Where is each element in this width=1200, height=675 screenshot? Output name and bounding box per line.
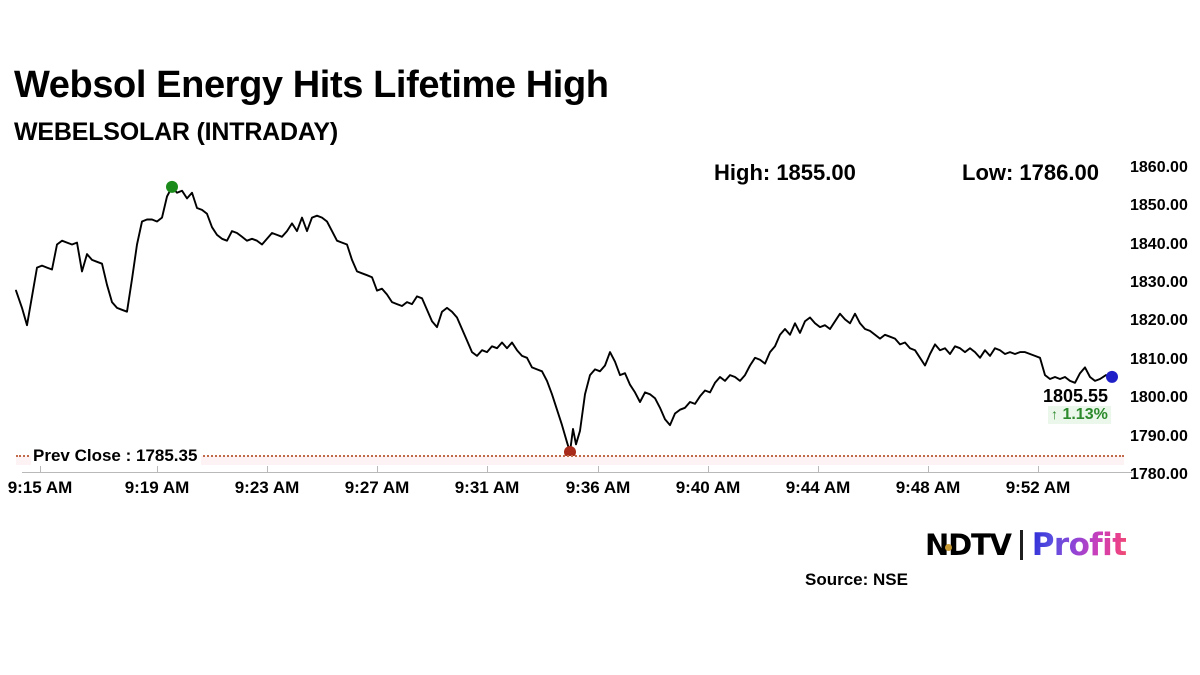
page-title: Websol Energy Hits Lifetime High: [14, 66, 609, 104]
up-arrow-icon: ↑: [1051, 406, 1058, 422]
y-axis-tick: 1800.00: [1130, 390, 1188, 406]
chart-card: Websol Energy Hits Lifetime High WEBELSO…: [0, 0, 1200, 675]
x-axis-tick: 9:36 AM: [566, 479, 631, 496]
x-axis-tick-mark: [267, 466, 268, 473]
x-axis-tick-mark: [708, 466, 709, 473]
x-axis-tick: 9:19 AM: [125, 479, 190, 496]
last-change-label: ↑ 1.13%: [1048, 406, 1111, 424]
y-axis: 1860.001850.001840.001830.001820.001810.…: [1128, 160, 1200, 480]
x-axis-tick: 9:23 AM: [235, 479, 300, 496]
y-axis-tick: 1840.00: [1130, 237, 1188, 253]
price-line: [16, 187, 1112, 452]
y-axis-tick: 1820.00: [1130, 313, 1188, 329]
high-point-marker: [166, 181, 178, 193]
price-chart-plot: [0, 160, 1130, 475]
x-axis-tick-mark: [928, 466, 929, 473]
ndtv-dot-icon: [945, 544, 952, 551]
x-axis-tick-mark: [1038, 466, 1039, 473]
profit-wordmark: Profit: [1032, 530, 1127, 561]
x-axis-tick-mark: [818, 466, 819, 473]
price-line-svg: [0, 160, 1130, 475]
x-axis-tick-mark: [377, 466, 378, 473]
last-change-value: 1.13%: [1062, 406, 1107, 423]
page-subtitle: WEBELSOLAR (INTRADAY): [14, 120, 338, 145]
ndtv-text: NDTV: [925, 528, 1011, 562]
y-axis-tick: 1810.00: [1130, 352, 1188, 368]
last-price-label: 1805.55: [1043, 387, 1108, 405]
last-point-marker: [1106, 371, 1118, 383]
x-axis: 9:15 AM9:19 AM9:23 AM9:27 AM9:31 AM9:36 …: [0, 479, 1200, 509]
x-axis-tick: 9:44 AM: [786, 479, 851, 496]
x-axis-tick: 9:52 AM: [1006, 479, 1071, 496]
prev-close-label: Prev Close : 1785.35: [31, 445, 201, 466]
x-axis-tick: 9:40 AM: [676, 479, 741, 496]
y-axis-tick: 1790.00: [1130, 429, 1188, 445]
x-axis-tick: 9:31 AM: [455, 479, 520, 496]
ndtv-profit-logo: NDTV Profit: [925, 528, 1126, 562]
x-axis-tick-mark: [598, 466, 599, 473]
y-axis-tick: 1860.00: [1130, 160, 1188, 176]
ndtv-wordmark: NDTV: [925, 531, 1011, 560]
y-axis-tick: 1830.00: [1130, 275, 1188, 291]
x-axis-tick-mark: [157, 466, 158, 473]
y-axis-tick: 1850.00: [1130, 198, 1188, 214]
logo-divider: [1020, 530, 1023, 560]
x-axis-tick-mark: [487, 466, 488, 473]
x-axis-tick: 9:15 AM: [8, 479, 73, 496]
x-axis-tick-mark: [40, 466, 41, 473]
x-axis-tick: 9:27 AM: [345, 479, 410, 496]
x-axis-line: [22, 472, 1132, 473]
x-axis-tick: 9:48 AM: [896, 479, 961, 496]
source-label: Source: NSE: [805, 570, 908, 590]
